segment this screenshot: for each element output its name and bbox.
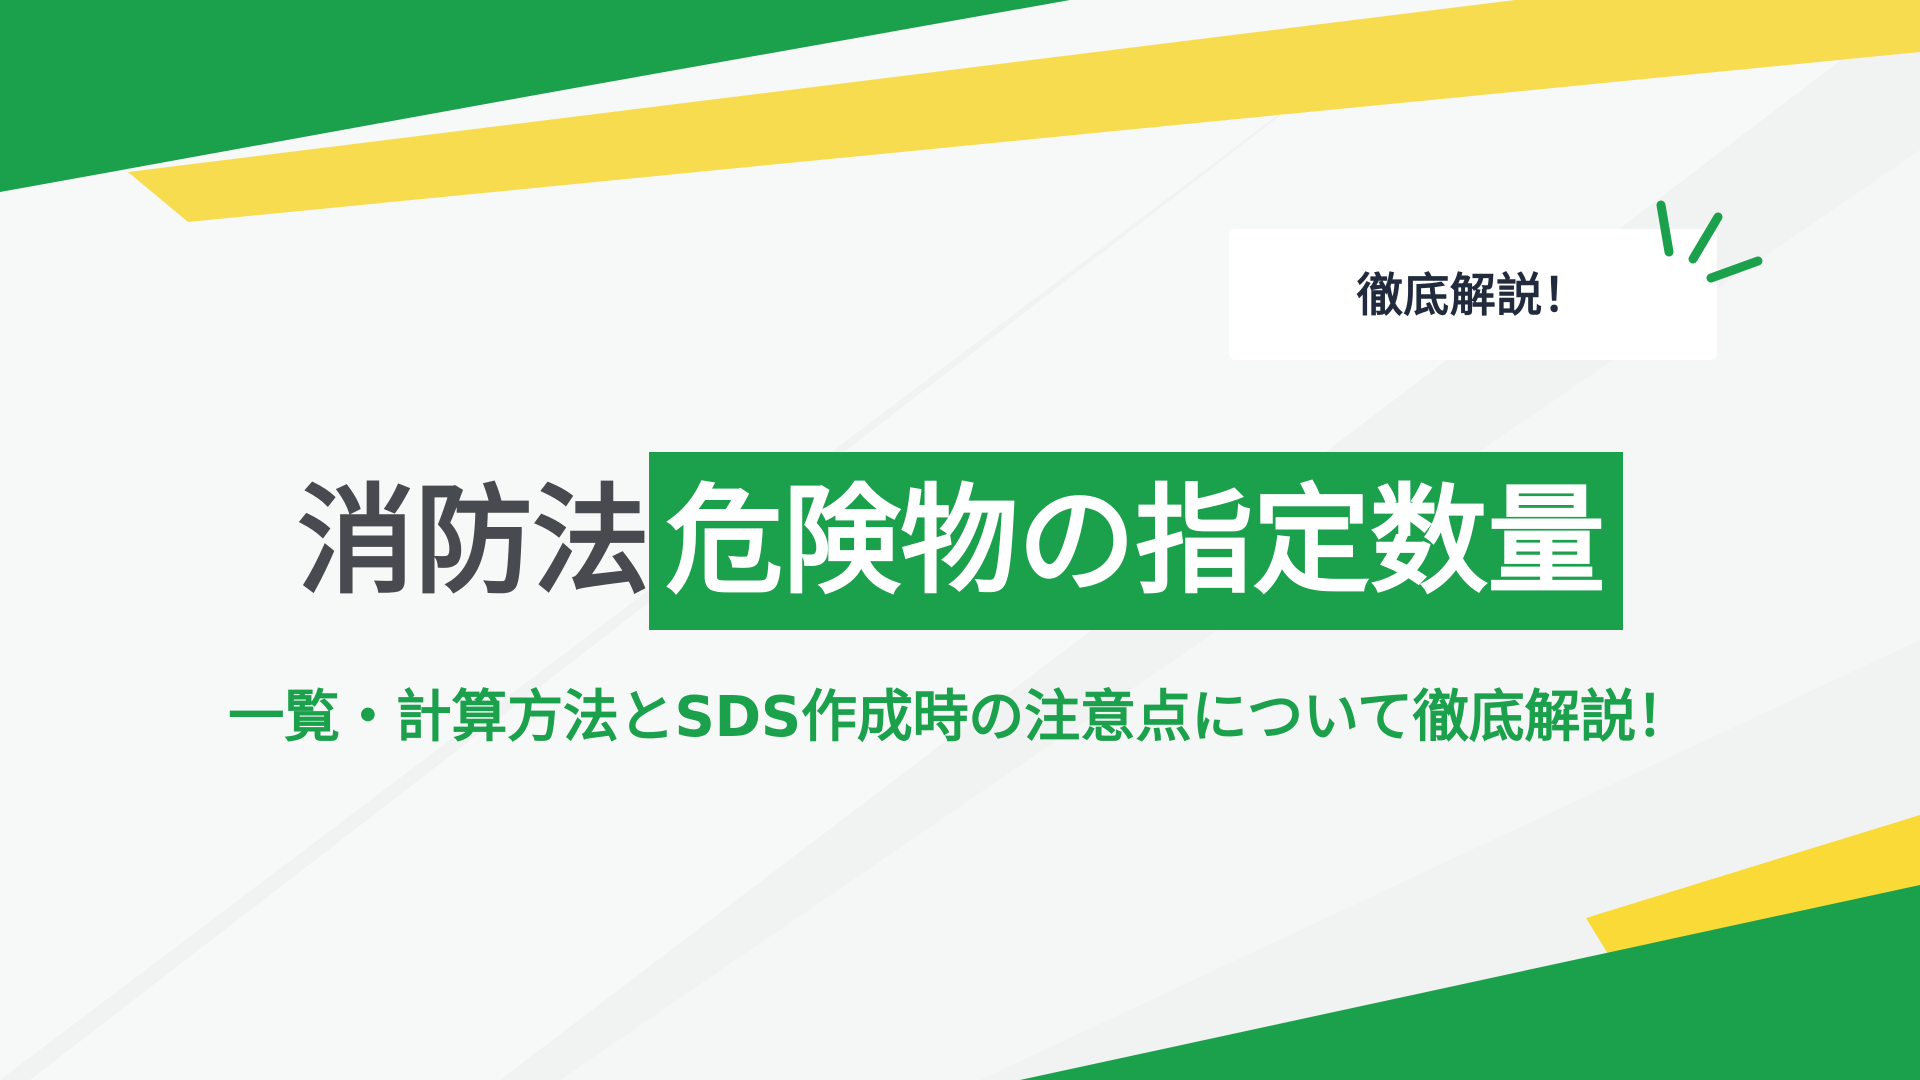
page-title: 消防法 危険物の指定数量 bbox=[0, 452, 1920, 630]
page-title-plain: 消防法 bbox=[297, 452, 649, 630]
page-subtitle: 一覧・計算方法とSDS作成時の注意点について徹底解説！ bbox=[0, 676, 1920, 760]
green-corner-bottom-right bbox=[1020, 885, 1920, 1080]
sparkle-lines-icon bbox=[1640, 175, 1820, 325]
thumbnail-canvas: 徹底解説！ 消防法 危険物の指定数量 一覧・計算方法とSDS作成時の注意点につい… bbox=[0, 0, 1920, 1080]
page-title-highlight: 危険物の指定数量 bbox=[649, 452, 1622, 630]
tagline-badge-label: 徹底解説！ bbox=[1357, 272, 1589, 318]
